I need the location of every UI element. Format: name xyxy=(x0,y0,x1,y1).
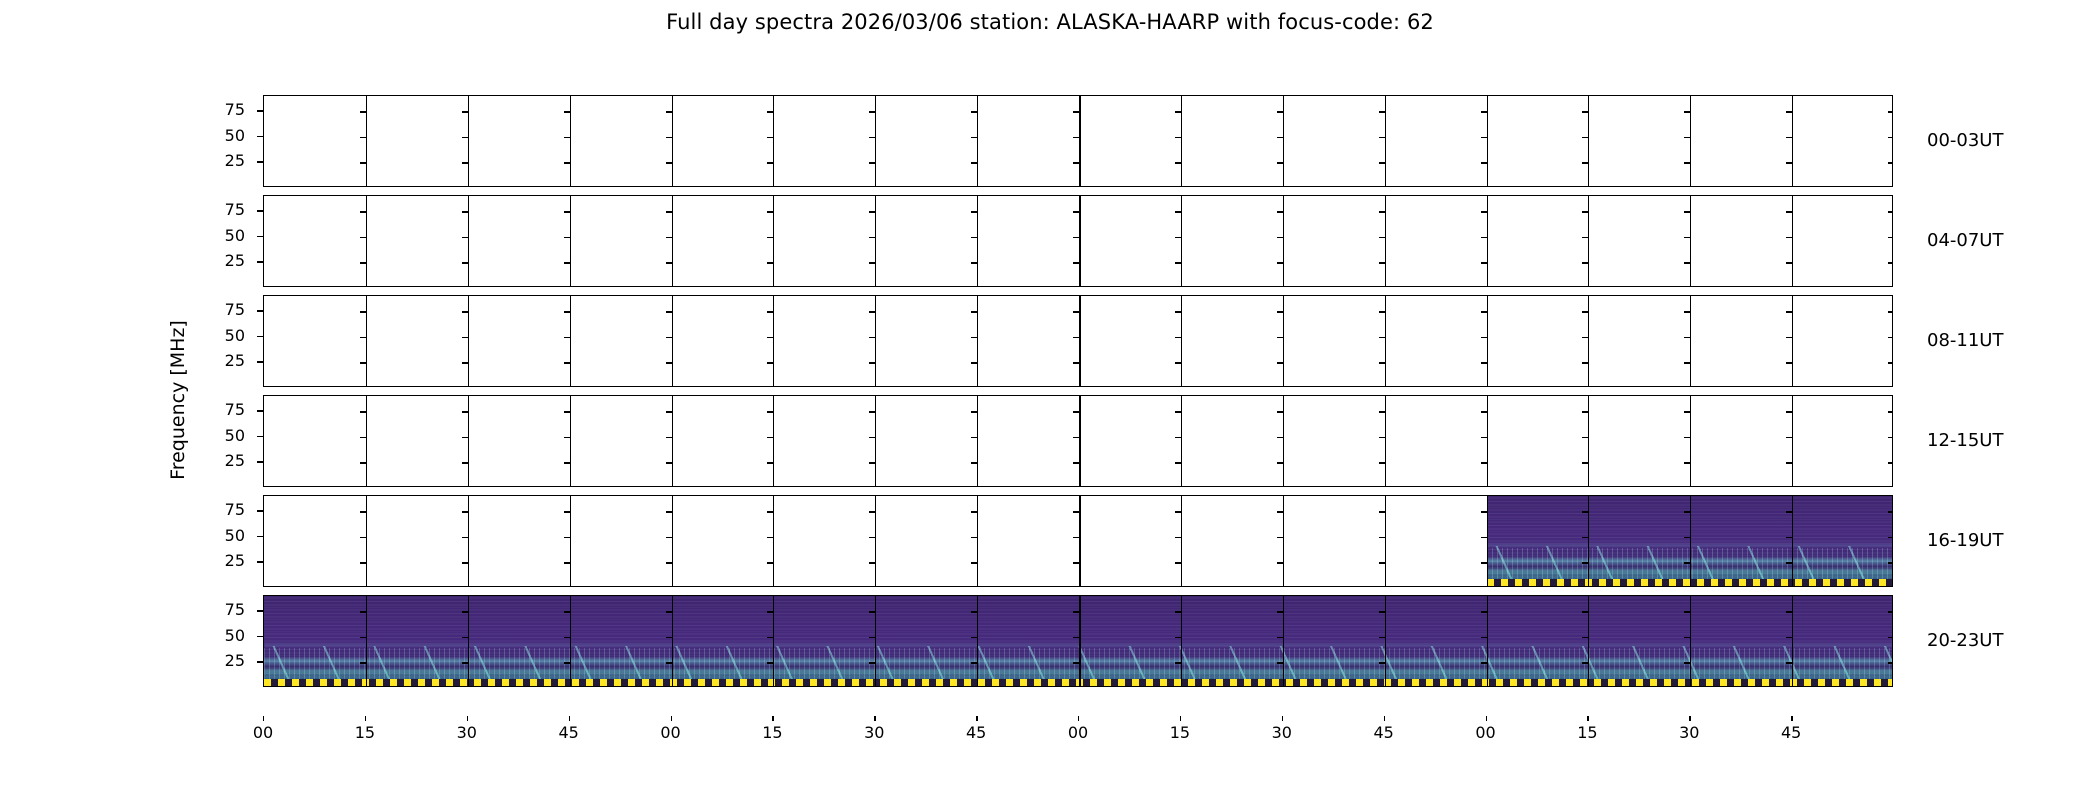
y-axis-tick-label: 25 xyxy=(205,351,245,370)
y-tick-mark xyxy=(462,437,468,438)
y-tick-mark xyxy=(1684,411,1690,412)
y-tick-mark xyxy=(1277,162,1283,163)
y-tick-mark xyxy=(869,262,875,263)
panel-divider xyxy=(672,596,674,686)
y-tick-mark xyxy=(462,111,468,112)
panel-divider xyxy=(570,396,571,486)
y-tick-mark xyxy=(1582,637,1588,638)
y-tick-mark xyxy=(666,237,672,238)
y-tick-mark xyxy=(1277,337,1283,338)
y-tick-mark xyxy=(971,611,977,612)
row-label-20-23ut: 20-23UT xyxy=(1927,630,2003,651)
y-tick-mark xyxy=(869,137,875,138)
panel-divider xyxy=(1181,96,1182,186)
y-tick-mark xyxy=(666,311,672,312)
y-tick-mark xyxy=(1481,337,1487,338)
y-axis-tick xyxy=(257,636,263,637)
y-tick-mark xyxy=(1684,337,1690,338)
y-tick-mark xyxy=(666,262,672,263)
y-tick-mark xyxy=(360,111,366,112)
y-axis-tick xyxy=(257,310,263,311)
y-tick-mark xyxy=(666,211,672,212)
y-tick-mark xyxy=(564,537,570,538)
y-tick-mark xyxy=(1888,362,1893,363)
y-tick-mark xyxy=(1277,311,1283,312)
y-tick-mark xyxy=(1786,511,1792,512)
y-tick-mark xyxy=(1379,362,1385,363)
y-tick-mark xyxy=(360,311,366,312)
y-tick-mark xyxy=(1073,611,1079,612)
x-axis-tick-label: 30 xyxy=(844,723,904,742)
panel-divider xyxy=(1283,396,1284,486)
y-tick-mark xyxy=(1277,562,1283,563)
y-tick-mark xyxy=(971,462,977,463)
y-tick-mark xyxy=(360,137,366,138)
y-tick-mark xyxy=(1888,462,1893,463)
y-tick-mark xyxy=(1888,262,1893,263)
y-tick-mark xyxy=(462,637,468,638)
y-axis-tick xyxy=(257,136,263,137)
x-axis-tick xyxy=(1078,716,1079,721)
y-axis-tick-label: 75 xyxy=(205,300,245,319)
y-tick-mark xyxy=(767,137,773,138)
panel-divider xyxy=(773,96,774,186)
y-tick-mark xyxy=(767,462,773,463)
panel-divider xyxy=(1690,396,1691,486)
y-axis-tick-label: 25 xyxy=(205,551,245,570)
y-tick-mark xyxy=(971,637,977,638)
y-tick-mark xyxy=(869,311,875,312)
y-tick-mark xyxy=(564,137,570,138)
y-tick-mark xyxy=(666,611,672,612)
y-tick-mark xyxy=(1379,437,1385,438)
y-tick-mark xyxy=(564,211,570,212)
y-tick-mark xyxy=(1888,611,1893,612)
y-tick-mark xyxy=(767,362,773,363)
panel-divider xyxy=(672,496,674,586)
y-tick-mark xyxy=(971,537,977,538)
y-tick-mark xyxy=(971,362,977,363)
y-tick-mark xyxy=(462,137,468,138)
y-tick-mark xyxy=(869,411,875,412)
x-axis-tick-label: 00 xyxy=(641,723,701,742)
panel-divider xyxy=(1181,296,1182,386)
y-tick-mark xyxy=(1073,137,1079,138)
y-axis-tick xyxy=(257,461,263,462)
panel-divider xyxy=(1487,396,1489,486)
y-tick-mark xyxy=(1684,362,1690,363)
x-axis-tick-label: 45 xyxy=(946,723,1006,742)
y-tick-mark xyxy=(1684,637,1690,638)
y-tick-mark xyxy=(360,337,366,338)
y-tick-mark xyxy=(1277,411,1283,412)
panel-divider xyxy=(468,196,469,286)
y-axis-label: Frequency [MHz] xyxy=(167,320,189,480)
y-tick-mark xyxy=(1073,311,1079,312)
panel-divider xyxy=(672,396,674,486)
y-tick-mark xyxy=(564,462,570,463)
y-tick-mark xyxy=(1073,511,1079,512)
y-tick-mark xyxy=(1175,611,1181,612)
y-axis-tick xyxy=(257,610,263,611)
panel-divider xyxy=(366,496,367,586)
y-axis-tick-label: 25 xyxy=(205,251,245,270)
y-tick-mark xyxy=(971,337,977,338)
y-tick-mark xyxy=(1277,637,1283,638)
y-tick-mark xyxy=(1277,362,1283,363)
y-tick-mark xyxy=(767,211,773,212)
x-axis-tick xyxy=(365,716,366,721)
panel-divider xyxy=(1690,196,1691,286)
y-tick-mark xyxy=(971,237,977,238)
y-tick-mark xyxy=(1888,311,1893,312)
y-tick-mark xyxy=(1481,462,1487,463)
y-tick-mark xyxy=(869,162,875,163)
y-tick-mark xyxy=(1786,562,1792,563)
y-tick-mark xyxy=(1481,211,1487,212)
y-tick-mark xyxy=(462,337,468,338)
y-tick-mark xyxy=(1379,262,1385,263)
y-tick-mark xyxy=(360,637,366,638)
panel-divider xyxy=(875,96,876,186)
y-tick-mark xyxy=(1786,111,1792,112)
y-tick-mark xyxy=(1481,537,1487,538)
y-tick-mark xyxy=(1684,211,1690,212)
row-label-16-19ut: 16-19UT xyxy=(1927,530,2003,551)
y-tick-mark xyxy=(1888,411,1893,412)
spectra-row[interactable] xyxy=(263,395,1893,487)
x-axis-tick xyxy=(976,716,977,721)
y-tick-mark xyxy=(564,362,570,363)
y-tick-mark xyxy=(564,511,570,512)
y-tick-mark xyxy=(1786,337,1792,338)
y-tick-mark xyxy=(1888,511,1893,512)
y-tick-mark xyxy=(1073,362,1079,363)
y-tick-mark xyxy=(1175,662,1181,663)
y-axis-tick-label: 50 xyxy=(205,326,245,345)
x-axis-tick-label: 30 xyxy=(437,723,497,742)
y-tick-mark xyxy=(1379,162,1385,163)
y-tick-mark xyxy=(1888,662,1893,663)
panel-divider xyxy=(366,296,367,386)
y-tick-mark xyxy=(1073,211,1079,212)
y-tick-mark xyxy=(869,211,875,212)
spectra-row[interactable] xyxy=(263,195,1893,287)
spectra-row[interactable] xyxy=(263,495,1893,587)
x-axis-tick xyxy=(1282,716,1283,721)
y-tick-mark xyxy=(1175,462,1181,463)
panel-divider xyxy=(570,296,571,386)
y-tick-mark xyxy=(666,337,672,338)
y-tick-mark xyxy=(1481,162,1487,163)
x-axis-tick xyxy=(772,716,773,721)
y-tick-mark xyxy=(564,162,570,163)
x-axis-tick xyxy=(671,716,672,721)
y-tick-mark xyxy=(1379,637,1385,638)
y-tick-mark xyxy=(1582,611,1588,612)
y-axis-tick-label: 25 xyxy=(205,151,245,170)
y-tick-mark xyxy=(462,462,468,463)
x-axis-tick xyxy=(1587,716,1588,721)
y-tick-mark xyxy=(1073,462,1079,463)
y-tick-mark xyxy=(564,311,570,312)
y-tick-mark xyxy=(1582,262,1588,263)
y-tick-mark xyxy=(360,162,366,163)
y-tick-mark xyxy=(1582,411,1588,412)
y-axis-tick xyxy=(257,161,263,162)
x-axis-tick xyxy=(1180,716,1181,721)
y-tick-mark xyxy=(971,262,977,263)
y-tick-mark xyxy=(1684,162,1690,163)
panel-divider xyxy=(570,596,571,686)
y-tick-mark xyxy=(564,637,570,638)
spectra-row[interactable] xyxy=(263,95,1893,187)
y-tick-mark xyxy=(1481,662,1487,663)
y-tick-mark xyxy=(1684,137,1690,138)
y-tick-mark xyxy=(1582,662,1588,663)
panel-divider xyxy=(1588,596,1589,686)
y-tick-mark xyxy=(1888,337,1893,338)
y-tick-mark xyxy=(360,437,366,438)
y-tick-mark xyxy=(1786,362,1792,363)
y-tick-mark xyxy=(1684,537,1690,538)
y-tick-mark xyxy=(360,562,366,563)
y-tick-mark xyxy=(564,611,570,612)
panel-divider xyxy=(672,96,674,186)
panel-divider xyxy=(1385,596,1386,686)
y-tick-mark xyxy=(1481,362,1487,363)
y-tick-mark xyxy=(1888,137,1893,138)
panel-divider xyxy=(1690,96,1691,186)
y-tick-mark xyxy=(1073,437,1079,438)
y-tick-mark xyxy=(1481,611,1487,612)
y-axis-tick-label: 50 xyxy=(205,626,245,645)
y-tick-mark xyxy=(869,611,875,612)
y-tick-mark xyxy=(666,437,672,438)
y-tick-mark xyxy=(1379,462,1385,463)
y-tick-mark xyxy=(1379,662,1385,663)
panel-divider xyxy=(570,496,571,586)
panel-divider xyxy=(977,596,978,686)
panel-divider xyxy=(1792,296,1793,386)
y-axis-tick xyxy=(257,361,263,362)
x-axis-tick xyxy=(569,716,570,721)
panel-divider xyxy=(468,96,469,186)
y-tick-mark xyxy=(1175,411,1181,412)
panel-divider xyxy=(977,396,978,486)
y-tick-mark xyxy=(1786,537,1792,538)
panel-divider xyxy=(468,596,469,686)
panel-divider xyxy=(1588,196,1589,286)
y-axis-tick-label: 75 xyxy=(205,600,245,619)
y-axis-tick xyxy=(257,661,263,662)
panel-divider xyxy=(366,396,367,486)
y-axis-tick-label: 50 xyxy=(205,226,245,245)
y-tick-mark xyxy=(462,511,468,512)
y-tick-mark xyxy=(869,637,875,638)
y-tick-mark xyxy=(1379,611,1385,612)
row-label-00-03ut: 00-03UT xyxy=(1927,130,2003,151)
spectra-row[interactable] xyxy=(263,295,1893,387)
y-tick-mark xyxy=(1786,462,1792,463)
y-tick-mark xyxy=(1379,237,1385,238)
panel-divider xyxy=(672,196,674,286)
y-tick-mark xyxy=(1582,362,1588,363)
page-title: Full day spectra 2026/03/06 station: ALA… xyxy=(0,10,2100,34)
y-axis-tick-label: 50 xyxy=(205,426,245,445)
y-tick-mark xyxy=(564,337,570,338)
y-tick-mark xyxy=(869,437,875,438)
y-tick-mark xyxy=(869,662,875,663)
y-tick-mark xyxy=(869,462,875,463)
y-tick-mark xyxy=(1684,611,1690,612)
y-tick-mark xyxy=(767,337,773,338)
y-tick-mark xyxy=(1277,137,1283,138)
panel-divider xyxy=(1385,296,1386,386)
y-tick-mark xyxy=(462,211,468,212)
panel-divider xyxy=(1487,96,1489,186)
y-tick-mark xyxy=(1786,162,1792,163)
y-tick-mark xyxy=(1481,411,1487,412)
panel-divider xyxy=(875,296,876,386)
y-tick-mark xyxy=(360,411,366,412)
y-tick-mark xyxy=(1582,211,1588,212)
y-tick-mark xyxy=(1582,437,1588,438)
y-tick-mark xyxy=(360,362,366,363)
x-axis-tick-label: 45 xyxy=(1354,723,1414,742)
y-tick-mark xyxy=(1582,562,1588,563)
y-tick-mark xyxy=(1175,437,1181,438)
panel-divider xyxy=(977,496,978,586)
panel-divider xyxy=(1283,496,1284,586)
panel-divider xyxy=(1487,296,1489,386)
spectra-figure: Full day spectra 2026/03/06 station: ALA… xyxy=(0,0,2100,800)
panel-divider xyxy=(1588,96,1589,186)
y-tick-mark xyxy=(666,137,672,138)
x-axis-tick-label: 00 xyxy=(1456,723,1516,742)
y-axis-tick-label: 75 xyxy=(205,500,245,519)
panel-divider xyxy=(468,496,469,586)
y-tick-mark xyxy=(1684,237,1690,238)
y-tick-mark xyxy=(1277,211,1283,212)
x-axis-tick xyxy=(1791,716,1792,721)
panel-divider xyxy=(875,596,876,686)
panel-divider xyxy=(570,96,571,186)
y-tick-mark xyxy=(462,237,468,238)
y-tick-mark xyxy=(1175,137,1181,138)
y-tick-mark xyxy=(360,611,366,612)
y-tick-mark xyxy=(1888,162,1893,163)
y-tick-mark xyxy=(1277,537,1283,538)
y-tick-mark xyxy=(1786,237,1792,238)
y-tick-mark xyxy=(1786,662,1792,663)
y-tick-mark xyxy=(1175,311,1181,312)
row-label-08-11ut: 08-11UT xyxy=(1927,330,2003,351)
y-tick-mark xyxy=(1481,262,1487,263)
panel-divider xyxy=(1283,596,1284,686)
x-axis-tick-label: 00 xyxy=(1048,723,1108,742)
panel-divider xyxy=(1181,396,1182,486)
x-axis-tick-label: 45 xyxy=(539,723,599,742)
x-axis-tick-label: 15 xyxy=(335,723,395,742)
y-tick-mark xyxy=(1073,562,1079,563)
y-tick-mark xyxy=(869,511,875,512)
y-tick-mark xyxy=(564,111,570,112)
y-tick-mark xyxy=(666,162,672,163)
y-tick-mark xyxy=(1786,311,1792,312)
y-tick-mark xyxy=(767,411,773,412)
y-axis-tick-label: 75 xyxy=(205,200,245,219)
panel-divider xyxy=(570,196,571,286)
y-tick-mark xyxy=(1582,462,1588,463)
y-tick-mark xyxy=(1684,462,1690,463)
y-tick-mark xyxy=(1582,162,1588,163)
x-axis-tick xyxy=(1486,716,1487,721)
x-axis-tick-label: 15 xyxy=(742,723,802,742)
panel-divider xyxy=(1181,496,1182,586)
panel-divider xyxy=(1079,396,1081,486)
panel-divider xyxy=(1283,296,1284,386)
y-tick-mark xyxy=(1277,237,1283,238)
y-tick-mark xyxy=(1481,311,1487,312)
y-axis-tick-label: 25 xyxy=(205,451,245,470)
y-tick-mark xyxy=(1684,262,1690,263)
y-tick-mark xyxy=(971,662,977,663)
x-axis-tick-label: 00 xyxy=(233,723,293,742)
spectra-row[interactable] xyxy=(263,595,1893,687)
y-tick-mark xyxy=(1073,237,1079,238)
y-tick-mark xyxy=(1073,637,1079,638)
y-tick-mark xyxy=(564,411,570,412)
y-tick-mark xyxy=(1073,662,1079,663)
y-tick-mark xyxy=(1481,137,1487,138)
panel-divider xyxy=(1792,596,1793,686)
y-tick-mark xyxy=(666,362,672,363)
y-tick-mark xyxy=(666,511,672,512)
panel-divider xyxy=(875,396,876,486)
y-tick-mark xyxy=(666,662,672,663)
y-tick-mark xyxy=(1582,537,1588,538)
y-tick-mark xyxy=(1582,137,1588,138)
y-tick-mark xyxy=(971,111,977,112)
y-tick-mark xyxy=(1582,111,1588,112)
y-tick-mark xyxy=(1684,562,1690,563)
y-tick-mark xyxy=(462,411,468,412)
panel-divider xyxy=(1792,396,1793,486)
y-tick-mark xyxy=(767,662,773,663)
y-tick-mark xyxy=(1379,211,1385,212)
y-tick-mark xyxy=(360,511,366,512)
y-tick-mark xyxy=(1786,137,1792,138)
x-axis-tick-label: 15 xyxy=(1150,723,1210,742)
y-tick-mark xyxy=(1175,262,1181,263)
panel-divider xyxy=(1181,596,1182,686)
y-tick-mark xyxy=(666,462,672,463)
y-tick-mark xyxy=(971,511,977,512)
y-tick-mark xyxy=(1175,637,1181,638)
y-tick-mark xyxy=(1481,562,1487,563)
y-tick-mark xyxy=(1379,562,1385,563)
y-tick-mark xyxy=(1481,437,1487,438)
panel-divider xyxy=(1690,596,1691,686)
y-tick-mark xyxy=(971,211,977,212)
y-tick-mark xyxy=(1175,511,1181,512)
y-tick-mark xyxy=(767,437,773,438)
y-tick-mark xyxy=(1073,411,1079,412)
x-axis-tick xyxy=(467,716,468,721)
y-tick-mark xyxy=(462,662,468,663)
y-tick-mark xyxy=(767,611,773,612)
